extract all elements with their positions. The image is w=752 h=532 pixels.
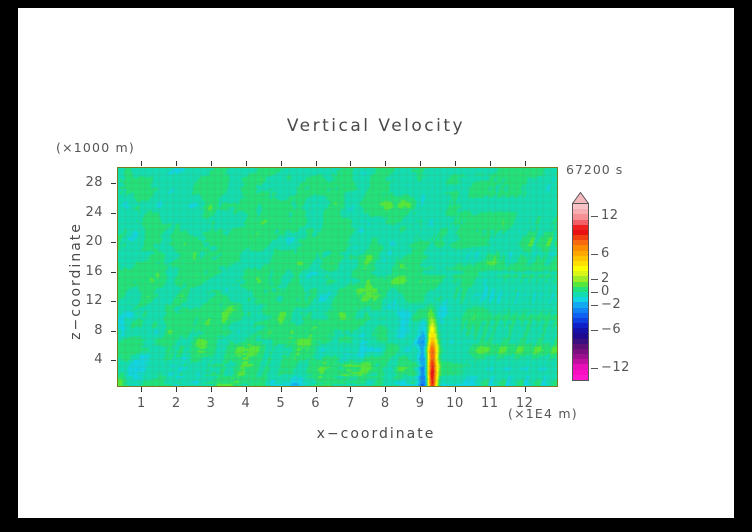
y-tick bbox=[111, 272, 116, 273]
y-axis-units-label: (×1000 m) bbox=[56, 140, 135, 155]
x-tick-top bbox=[350, 161, 351, 166]
x-tick bbox=[246, 387, 247, 392]
x-tick-top bbox=[490, 161, 491, 166]
colorbar-tick-label: 6 bbox=[601, 246, 610, 261]
x-tick bbox=[385, 387, 386, 392]
x-tick-label: 4 bbox=[234, 396, 258, 411]
x-tick-top bbox=[525, 161, 526, 166]
x-tick-label: 3 bbox=[199, 396, 223, 411]
x-tick-top bbox=[141, 161, 142, 166]
x-tick-top bbox=[176, 161, 177, 166]
x-tick bbox=[176, 387, 177, 392]
x-tick-label: 8 bbox=[373, 396, 397, 411]
x-tick-label: 6 bbox=[304, 396, 328, 411]
colorbar-tick-label: 12 bbox=[601, 208, 619, 223]
x-tick bbox=[490, 387, 491, 392]
colorbar-tick-label: −6 bbox=[601, 322, 621, 337]
x-tick-top bbox=[455, 161, 456, 166]
vertical-velocity-field bbox=[118, 168, 557, 386]
x-tick bbox=[281, 387, 282, 392]
x-axis-units-label: (×1E4 m) bbox=[508, 406, 578, 421]
x-tick bbox=[141, 387, 142, 392]
y-tick bbox=[111, 242, 116, 243]
x-tick-label: 1 bbox=[129, 396, 153, 411]
x-tick-label: 7 bbox=[338, 396, 362, 411]
colorbar-tick bbox=[591, 254, 598, 255]
x-axis-label: x−coordinate bbox=[18, 426, 734, 442]
time-stamp-label: 67200 s bbox=[566, 162, 623, 177]
x-tick-top bbox=[211, 161, 212, 166]
y-tick bbox=[111, 331, 116, 332]
x-tick-label: 5 bbox=[269, 396, 293, 411]
x-tick-top bbox=[316, 161, 317, 166]
x-tick bbox=[316, 387, 317, 392]
x-tick bbox=[350, 387, 351, 392]
x-tick-top bbox=[281, 161, 282, 166]
x-tick bbox=[211, 387, 212, 392]
x-tick-label: 9 bbox=[408, 396, 432, 411]
x-tick-label: 11 bbox=[478, 396, 502, 411]
colorbar-tick bbox=[591, 330, 598, 331]
x-tick bbox=[525, 387, 526, 392]
heatmap-plot-area bbox=[117, 167, 558, 387]
y-tick bbox=[111, 213, 116, 214]
colorbar-tick-label: −12 bbox=[601, 360, 630, 375]
x-tick-top bbox=[246, 161, 247, 166]
y-tick-label: 28 bbox=[73, 175, 103, 190]
colorbar-band bbox=[573, 375, 588, 381]
colorbar-tick bbox=[591, 368, 598, 369]
y-tick bbox=[111, 360, 116, 361]
x-tick bbox=[455, 387, 456, 392]
y-tick bbox=[111, 301, 116, 302]
x-tick bbox=[420, 387, 421, 392]
page-title: Vertical Velocity bbox=[18, 116, 734, 136]
x-tick-label: 2 bbox=[164, 396, 188, 411]
x-tick-label: 10 bbox=[443, 396, 467, 411]
x-tick-top bbox=[420, 161, 421, 166]
figure-canvas: Vertical Velocity (×1000 m) 67200 s 1234… bbox=[18, 8, 734, 518]
x-tick-top bbox=[385, 161, 386, 166]
colorbar-gradient bbox=[572, 203, 589, 381]
colorbar-tick bbox=[591, 279, 598, 280]
colorbar-tick bbox=[591, 216, 598, 217]
y-axis-label: z−coordinate bbox=[68, 201, 84, 361]
colorbar: 12620−2−6−12 bbox=[572, 192, 672, 392]
image-border: Vertical Velocity (×1000 m) 67200 s 1234… bbox=[0, 0, 752, 532]
colorbar-tick-label: −2 bbox=[601, 297, 621, 312]
colorbar-tick bbox=[591, 292, 598, 293]
colorbar-tick bbox=[591, 305, 598, 306]
y-tick bbox=[111, 183, 116, 184]
